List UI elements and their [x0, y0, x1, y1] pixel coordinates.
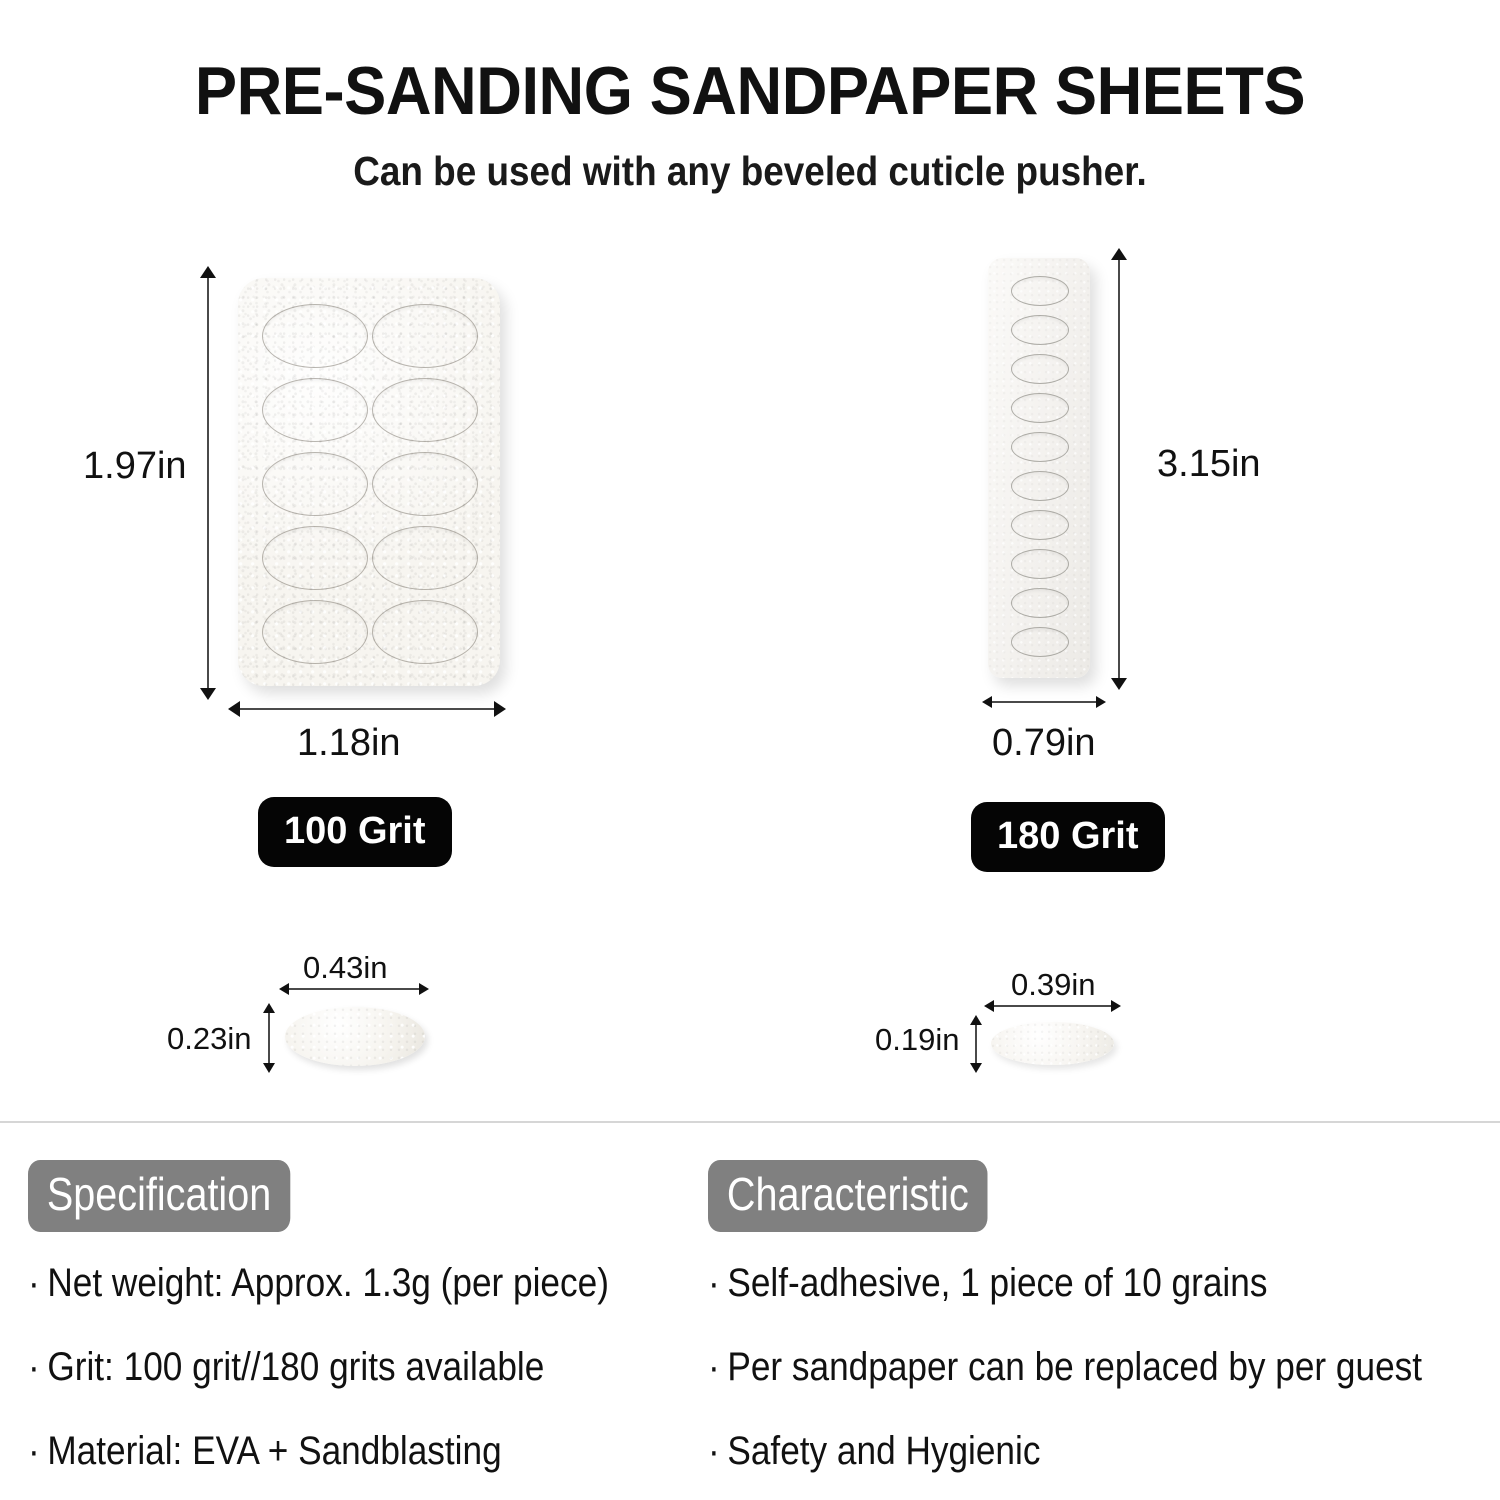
list-item: ·Material: EVA + Sandblasting [28, 1430, 609, 1472]
characteristic-panel: Characteristic ·Self-adhesive, 1 piece o… [708, 1160, 1498, 1500]
dimension-arrow-width-detail-180 [993, 1005, 1112, 1007]
grit-badge-100: 100 Grit [258, 797, 452, 867]
oval-cutout-grid-180 [988, 258, 1090, 678]
dimension-arrow-height-detail-100 [268, 1012, 270, 1064]
oval-cutout [372, 378, 478, 442]
list-item-text: Material: EVA + Sandblasting [47, 1429, 501, 1473]
list-item-text: Self-adhesive, 1 piece of 10 grains [727, 1261, 1267, 1305]
product-image-100-grit-sheet [238, 278, 500, 686]
characteristic-heading: Characteristic [708, 1160, 988, 1232]
section-divider [0, 1121, 1500, 1123]
bullet-icon: · [28, 1262, 47, 1304]
page-subtitle: Can be used with any beveled cuticle pus… [75, 148, 1425, 195]
bullet-icon: · [708, 1430, 727, 1472]
list-item-text: Per sandpaper can be replaced by per gue… [727, 1345, 1422, 1389]
dimension-label-height-180: 3.15in [1157, 443, 1261, 486]
list-item-text: Net weight: Approx. 1.3g (per piece) [47, 1261, 609, 1305]
dimension-arrow-width-100 [239, 708, 495, 710]
oval-cutout [262, 600, 368, 664]
bullet-icon: · [28, 1430, 47, 1472]
list-item-text: Grit: 100 grit//180 grits available [47, 1345, 544, 1389]
oval-cutout [262, 452, 368, 516]
oval-cutout [262, 378, 368, 442]
dimension-label-height-detail-100: 0.23in [167, 1021, 251, 1057]
product-image-180-grit-strip [988, 258, 1090, 678]
oval-cutout [1011, 354, 1069, 384]
oval-cutout [372, 526, 478, 590]
oval-cutout-grid-100 [238, 278, 500, 686]
dimension-label-width-100: 1.18in [297, 722, 401, 765]
dimension-arrow-height-100 [207, 277, 209, 689]
bullet-icon: · [708, 1262, 727, 1304]
dimension-label-width-180: 0.79in [992, 722, 1096, 765]
oval-cutout [372, 600, 478, 664]
specification-list: ·Net weight: Approx. 1.3g (per piece) ·G… [28, 1262, 688, 1472]
dimension-label-width-detail-180: 0.39in [1011, 967, 1095, 1003]
specification-panel: Specification ·Net weight: Approx. 1.3g … [28, 1160, 688, 1500]
oval-cutout [1011, 549, 1069, 579]
oval-cutout [1011, 588, 1069, 618]
oval-cutout [1011, 432, 1069, 462]
oval-cutout [1011, 510, 1069, 540]
detail-oval-180 [991, 1022, 1114, 1065]
list-item-text: Safety and Hygienic [727, 1429, 1040, 1473]
specification-heading: Specification [28, 1160, 290, 1232]
oval-cutout [262, 526, 368, 590]
bullet-icon: · [708, 1346, 727, 1388]
oval-cutout [372, 304, 478, 368]
oval-cutout [1011, 627, 1069, 657]
list-item: ·Self-adhesive, 1 piece of 10 grains [708, 1262, 1403, 1304]
list-item: ·Grit: 100 grit//180 grits available [28, 1346, 609, 1388]
dimension-arrow-height-detail-180 [975, 1024, 977, 1064]
bullet-icon: · [28, 1346, 47, 1388]
oval-cutout [1011, 471, 1069, 501]
characteristic-list: ·Self-adhesive, 1 piece of 10 grains ·Pe… [708, 1262, 1498, 1472]
dimension-arrow-width-detail-100 [288, 988, 420, 990]
grit-badge-180: 180 Grit [971, 802, 1165, 872]
list-item: ·Per sandpaper can be replaced by per gu… [708, 1346, 1403, 1388]
oval-cutout [262, 304, 368, 368]
dimension-label-width-detail-100: 0.43in [303, 950, 387, 986]
oval-cutout [1011, 276, 1069, 306]
list-item: ·Net weight: Approx. 1.3g (per piece) [28, 1262, 609, 1304]
page-title: PRE-SANDING SANDPAPER SHEETS [53, 52, 1448, 130]
oval-cutout [1011, 393, 1069, 423]
detail-oval-100 [285, 1007, 425, 1066]
list-item: ·Safety and Hygienic [708, 1430, 1403, 1472]
dimension-arrow-width-180 [991, 701, 1097, 703]
oval-cutout [1011, 315, 1069, 345]
dimension-arrow-height-180 [1118, 259, 1120, 679]
dimension-label-height-detail-180: 0.19in [875, 1022, 959, 1058]
product-infographic: PRE-SANDING SANDPAPER SHEETS Can be used… [0, 0, 1500, 1500]
oval-cutout [372, 452, 478, 516]
dimension-label-height-100: 1.97in [83, 445, 187, 488]
